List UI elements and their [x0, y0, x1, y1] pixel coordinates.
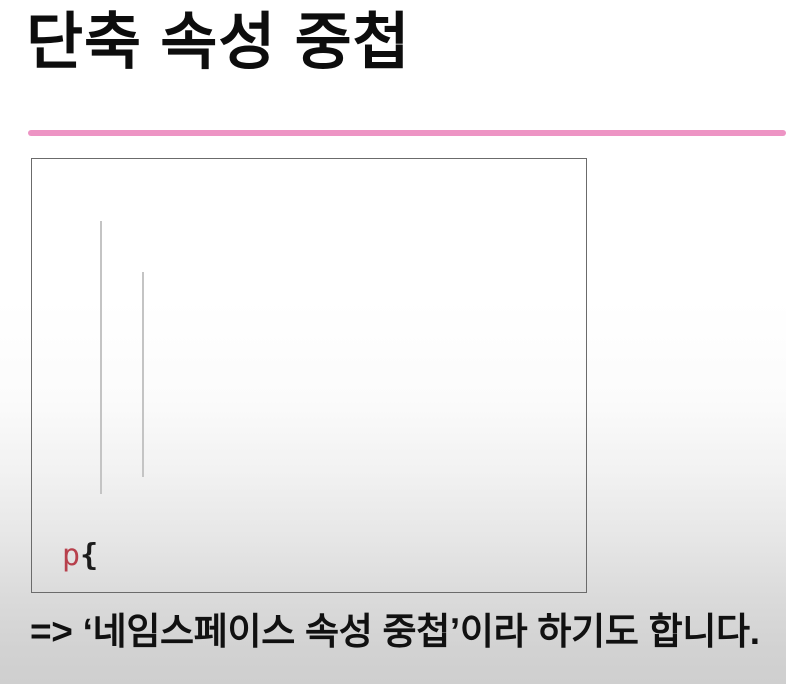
css-selector: p: [62, 538, 80, 573]
indent-guide-outer: [100, 221, 102, 494]
code-block: p{ font: { family: sans-serif; size: 1em…: [31, 158, 587, 593]
page-title: 단축 속성 중첩: [26, 6, 411, 79]
indent-guide-inner: [142, 272, 144, 477]
open-brace: {: [80, 538, 98, 573]
caption-text: => ‘네임스페이스 속성 중첩’이라 하기도 합니다.: [30, 609, 760, 655]
title-divider: [28, 130, 786, 136]
code-line: p{: [32, 530, 586, 581]
code-content: p{ font: { family: sans-serif; size: 1em…: [32, 159, 586, 593]
